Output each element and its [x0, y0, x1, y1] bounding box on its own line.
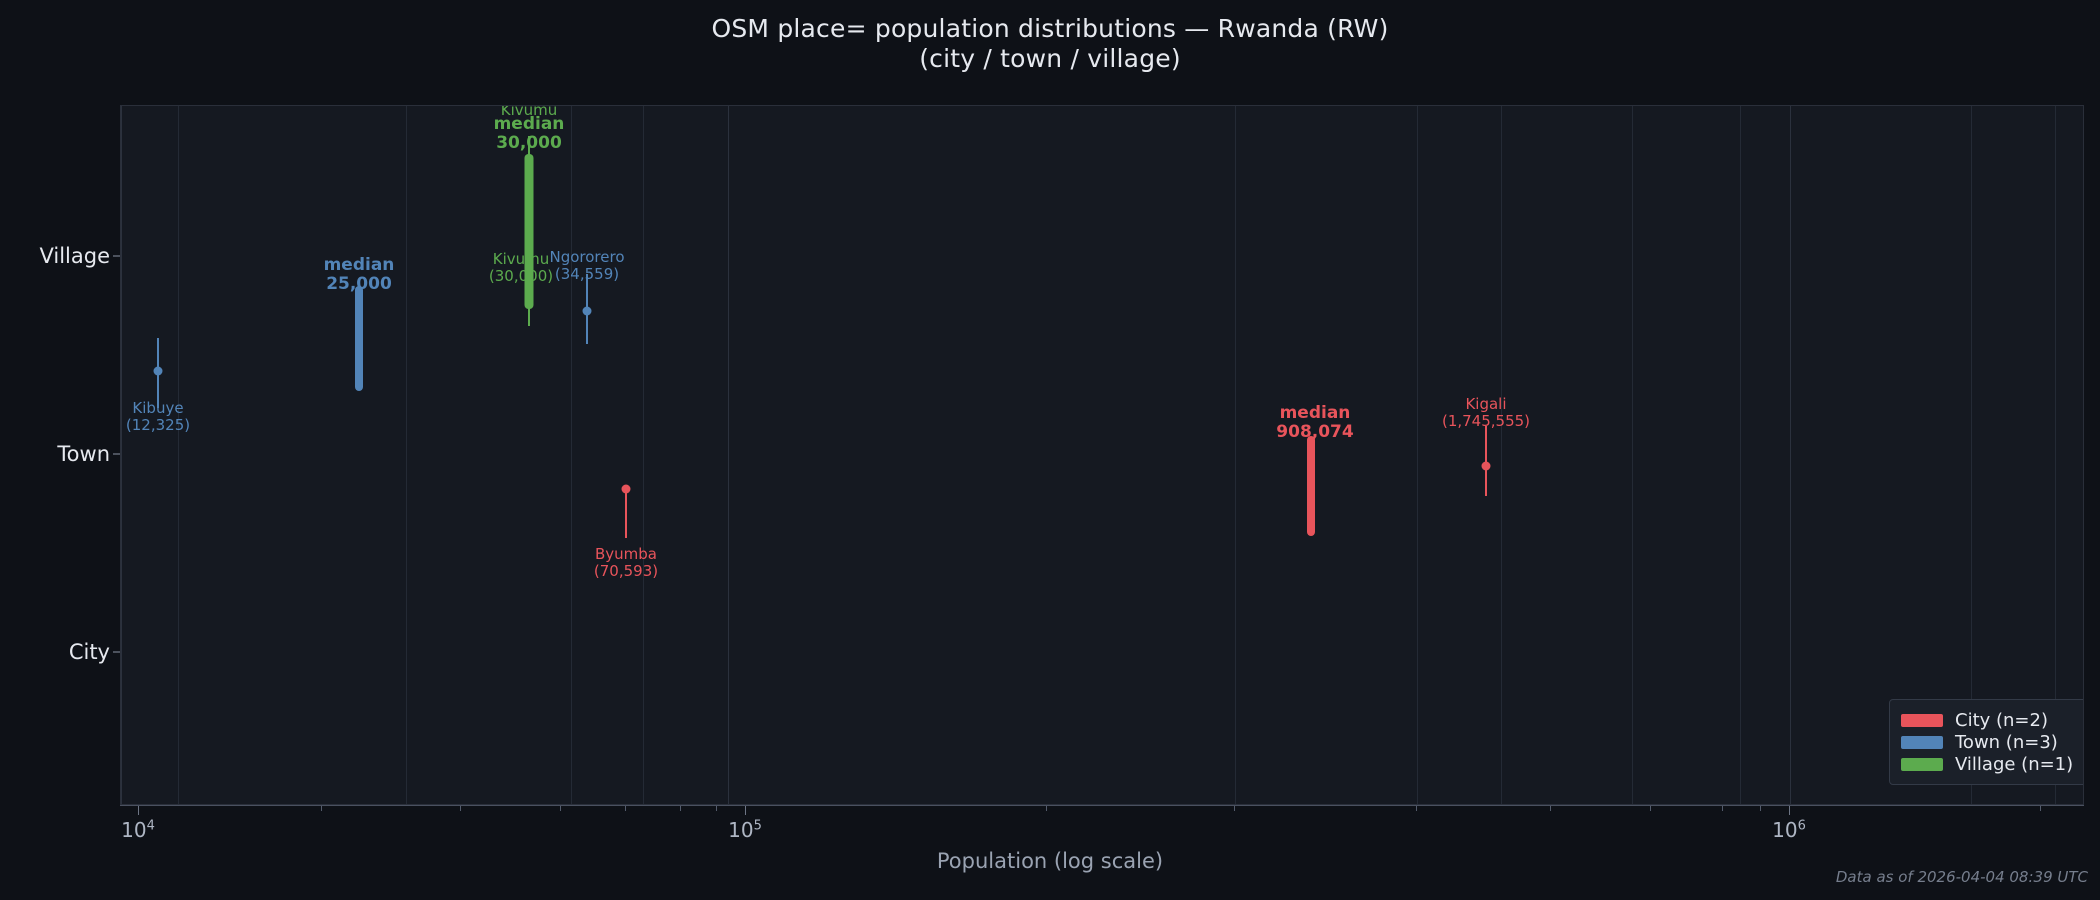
x-axis-tick-minor [1234, 806, 1235, 811]
gridline [1740, 106, 1741, 804]
chart-figure: OSM place= population distributions — Rw… [0, 0, 2100, 900]
x-axis-tick-minor [1722, 806, 1723, 811]
annotation-village-median-word: median [494, 115, 565, 134]
legend-swatch-city-icon [1901, 714, 1943, 727]
x-axis-tick-minor [716, 806, 717, 811]
annotation-city-median-value: 908,074 [1276, 423, 1353, 442]
legend-label-town: Town (n=3) [1955, 732, 2058, 753]
annotation-city-byumba: Byumba (70,593) [594, 546, 658, 580]
town-point-ngororero [583, 307, 592, 316]
x-axis-tick-major [1789, 806, 1790, 815]
x-axis-tick-minor [1046, 806, 1047, 811]
y-axis-tick-town [113, 454, 120, 455]
legend-item-city: City (n=2) [1901, 709, 2073, 731]
annotation-city-median: median 908,074 [1276, 404, 1353, 442]
gridline [178, 106, 179, 804]
x-axis-tick-minor [680, 806, 681, 811]
gridline [728, 106, 729, 804]
town-median-bar [355, 286, 363, 391]
x-axis-title: Population (log scale) [0, 849, 2100, 873]
gridline [571, 106, 572, 804]
annotation-town-kibuye-value: (12,325) [126, 417, 190, 434]
annotation-town-median: median 25,000 [324, 256, 395, 294]
plot-area: Kivumu median 30,000 Kivumu (30,000) med… [120, 105, 2084, 805]
x-axis-tick-minor [1416, 806, 1417, 811]
annotation-town-median-value: 25,000 [324, 275, 395, 294]
legend-swatch-village-icon [1901, 758, 1943, 771]
x-axis-tick-minor [2040, 806, 2041, 811]
x-axis-tick-major [745, 806, 746, 815]
annotation-village-kivumu-name: Kivumu [489, 251, 553, 268]
gridline [643, 106, 644, 804]
chart-title-line1: OSM place= population distributions — Rw… [711, 14, 1388, 43]
y-axis-label-town: Town [0, 442, 110, 466]
annotation-city-kigali: Kigali (1,745,555) [1442, 396, 1530, 430]
x-axis-tick-minor [560, 806, 561, 811]
city-median-bar [1307, 436, 1315, 536]
town-point-kibuye [154, 367, 163, 376]
city-point-byumba [622, 485, 631, 494]
x-axis-tick-minor [1760, 806, 1761, 811]
annotation-town-ngororero-name: Ngororero [549, 249, 624, 266]
x-axis-tick-minor [321, 806, 322, 811]
annotation-village-kivumu: Kivumu (30,000) [489, 251, 553, 285]
city-whisker-byumba [625, 488, 627, 538]
x-axis-tick-minor [460, 806, 461, 811]
y-axis-label-village: Village [0, 244, 110, 268]
annotation-village-median-value: 30,000 [494, 134, 565, 153]
x-axis-tick-minor [1650, 806, 1651, 811]
legend-label-village: Village (n=1) [1955, 754, 2073, 775]
gridline [1235, 106, 1236, 804]
legend-item-town: Town (n=3) [1901, 731, 2073, 753]
annotation-city-median-word: median [1276, 404, 1353, 423]
x-axis-tick-minor [1550, 806, 1551, 811]
annotation-village-kivumu-value: (30,000) [489, 268, 553, 285]
y-axis-tick-village [113, 256, 120, 257]
gridline [121, 106, 122, 804]
legend-label-city: City (n=2) [1955, 710, 2048, 731]
y-axis-tick-city [113, 652, 120, 653]
annotation-city-kigali-name: Kigali [1442, 396, 1530, 413]
annotation-village-median: median 30,000 [494, 115, 565, 153]
gridline [1632, 106, 1633, 804]
gridline [1501, 106, 1502, 804]
annotation-city-byumba-value: (70,593) [594, 563, 658, 580]
chart-legend: City (n=2) Town (n=3) Village (n=1) [1889, 699, 2084, 785]
data-timestamp-footer: Data as of 2026-04-04 08:39 UTC [1836, 868, 2088, 886]
annotation-town-median-word: median [324, 256, 395, 275]
chart-title: OSM place= population distributions — Rw… [0, 14, 2100, 74]
chart-title-line2: (city / town / village) [0, 44, 2100, 74]
y-axis-label-city: City [0, 640, 110, 664]
legend-swatch-town-icon [1901, 736, 1943, 749]
gridline [1790, 106, 1791, 804]
x-axis-tick-major [138, 806, 139, 815]
legend-item-village: Village (n=1) [1901, 753, 2073, 775]
x-axis-tick-label-1e4: 104 [121, 818, 155, 842]
annotation-city-byumba-name: Byumba [594, 546, 658, 563]
x-axis-tick-label-1e5: 105 [728, 818, 762, 842]
village-point-kivumu [525, 227, 534, 236]
x-axis-tick-minor [625, 806, 626, 811]
gridline [1417, 106, 1418, 804]
gridline [406, 106, 407, 804]
x-axis-tick-label-1e6: 106 [1772, 818, 1806, 842]
city-point-kigali [1482, 462, 1491, 471]
